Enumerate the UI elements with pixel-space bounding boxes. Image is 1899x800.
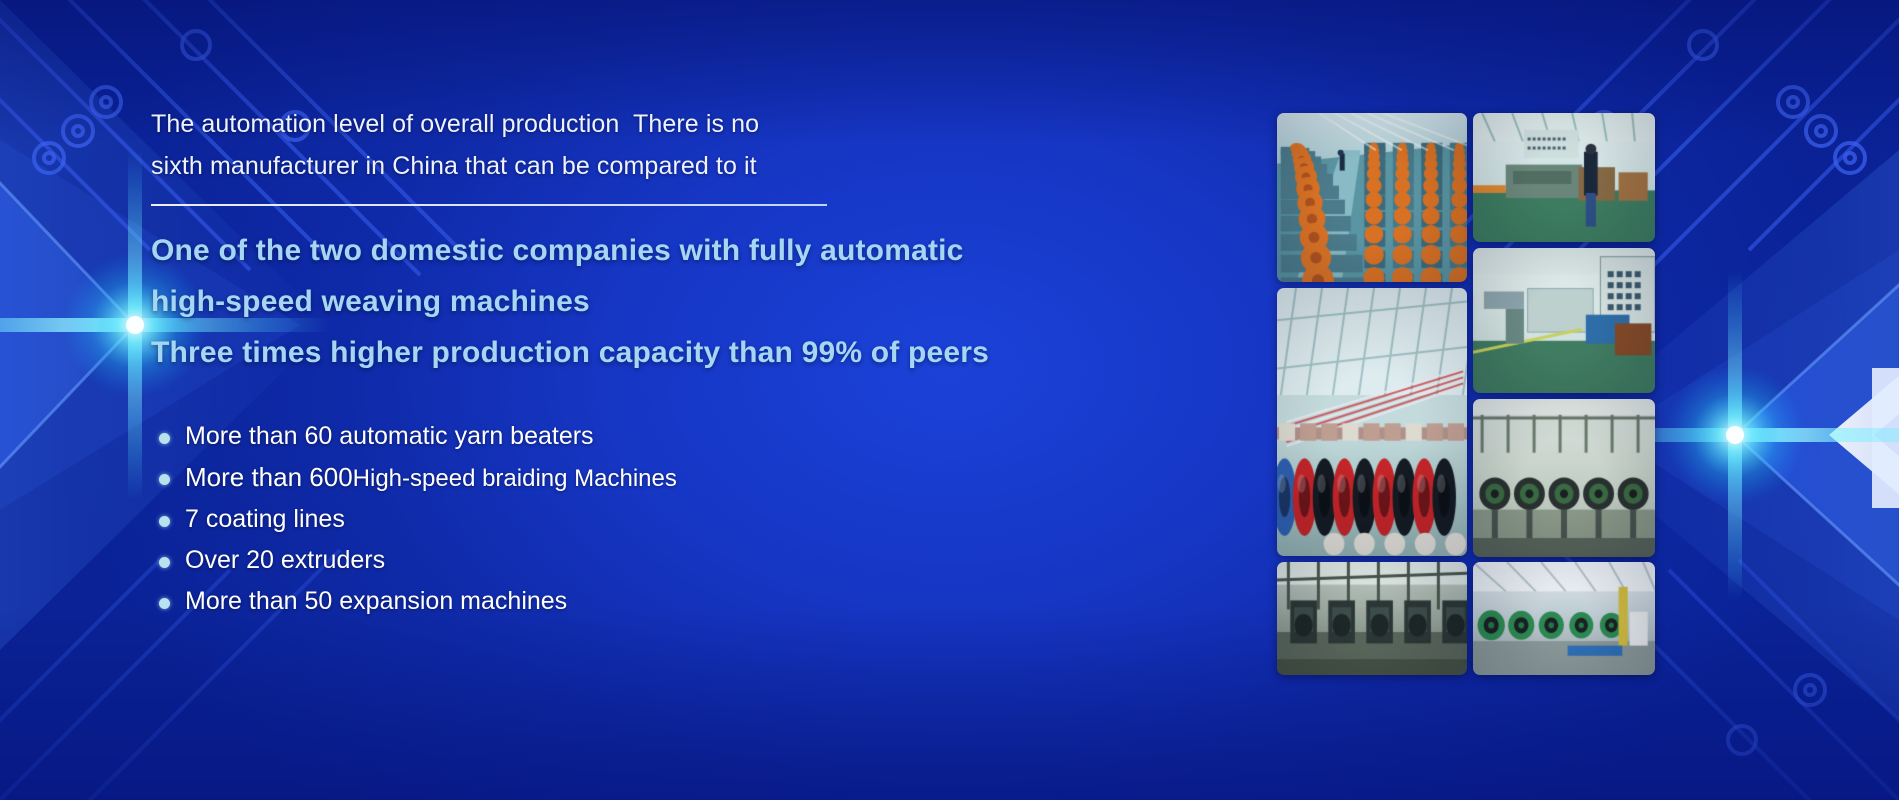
photo-gallery	[1277, 113, 1655, 675]
photo-braiding-machine-hall[interactable]	[1277, 113, 1467, 282]
list-item: More than 50 expansion machines	[151, 581, 1011, 622]
right-chevron-icon	[1735, 230, 1899, 640]
intro-line-1: The automation level of overall producti…	[151, 103, 1011, 145]
headline-rest: higher production capacity than 99% of p…	[330, 336, 989, 369]
bullet-dot-icon	[159, 557, 170, 568]
photo-stranding-machines[interactable]	[1277, 562, 1467, 675]
list-item: More than 60 automatic yarn beaters	[151, 416, 1011, 457]
list-item: Over 20 extruders	[151, 540, 1011, 581]
list-item-label-rest: High-speed braiding Machines	[353, 465, 677, 492]
circuit-pads-bottom-right	[1728, 675, 1825, 754]
list-item-label: More than 60 automatic yarn beaters	[185, 422, 594, 450]
list-item-label: Over 20 extruders	[185, 546, 385, 574]
headline-line-1: One of the two domestic companies with f…	[151, 225, 1011, 276]
photo-cable-reel-warehouse[interactable]	[1473, 562, 1655, 675]
list-item: More than 600High-speed braiding Machine…	[151, 457, 1011, 499]
headline-line-2: high-speed weaving machines	[151, 276, 1011, 327]
left-chevron-icon	[0, 120, 135, 530]
bullet-dot-icon	[159, 516, 170, 527]
list-item-label: 7 coating lines	[185, 505, 345, 533]
photo-bobbin-creel[interactable]	[1277, 288, 1467, 556]
bullet-dot-icon	[159, 474, 170, 485]
headline-line-3: Three times higher production capacity t…	[151, 327, 1011, 378]
bullet-dot-icon	[159, 598, 170, 609]
headline-accent: Three times	[151, 336, 330, 369]
bullet-dot-icon	[159, 433, 170, 444]
slide-canvas: The automation level of overall producti…	[0, 0, 1899, 800]
photo-control-panel-line[interactable]	[1473, 248, 1655, 393]
content-column: The automation level of overall producti…	[151, 103, 1011, 622]
list-item-label-strong: More than 600	[185, 462, 353, 492]
photo-cable-drum-workshop[interactable]	[1473, 399, 1655, 557]
intro-line-2: sixth manufacturer in China that can be …	[151, 145, 1011, 187]
list-item: 7 coating lines	[151, 499, 1011, 540]
divider-rule	[151, 204, 827, 206]
feature-list: More than 60 automatic yarn beaters More…	[151, 416, 1011, 622]
photo-operator-at-machine[interactable]	[1473, 113, 1655, 242]
list-item-label: More than 50 expansion machines	[185, 587, 567, 615]
